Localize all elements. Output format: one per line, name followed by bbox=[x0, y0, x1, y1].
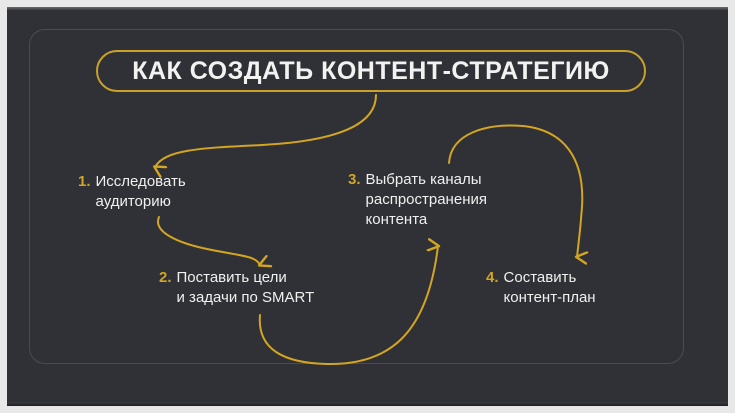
slide-bottom-edge bbox=[7, 402, 728, 406]
step-number-3: 3. bbox=[348, 170, 361, 190]
step-item-1: 1. Исследовать аудиторию bbox=[78, 172, 186, 212]
step-label-2: Поставить цели и задачи по SMART bbox=[177, 268, 315, 308]
arrow-step-1-to-step-2 bbox=[158, 217, 260, 265]
step-item-3: 3. Выбрать каналы распространения контен… bbox=[348, 170, 487, 230]
step-item-4: 4. Составить контент-план bbox=[486, 268, 596, 308]
step-number-4: 4. bbox=[486, 268, 499, 288]
step-label-3: Выбрать каналы распространения контента bbox=[366, 170, 487, 230]
title-pill: КАК СОЗДАТЬ КОНТЕНТ-СТРАТЕГИЮ bbox=[96, 50, 646, 92]
step-number-1: 1. bbox=[78, 172, 91, 192]
slide-canvas: КАК СОЗДАТЬ КОНТЕНТ-СТРАТЕГИЮ 1. Исследо… bbox=[7, 7, 728, 406]
page-title: КАК СОЗДАТЬ КОНТЕНТ-СТРАТЕГИЮ bbox=[132, 57, 610, 86]
slide-outer-frame: КАК СОЗДАТЬ КОНТЕНТ-СТРАТЕГИЮ 1. Исследо… bbox=[0, 0, 735, 413]
arrow-title-to-step-1 bbox=[155, 95, 376, 167]
slide-top-edge bbox=[7, 7, 728, 10]
step-item-2: 2. Поставить цели и задачи по SMART bbox=[159, 268, 314, 308]
step-number-2: 2. bbox=[159, 268, 172, 288]
step-label-4: Составить контент-план bbox=[504, 268, 596, 308]
step-label-1: Исследовать аудиторию bbox=[96, 172, 186, 212]
